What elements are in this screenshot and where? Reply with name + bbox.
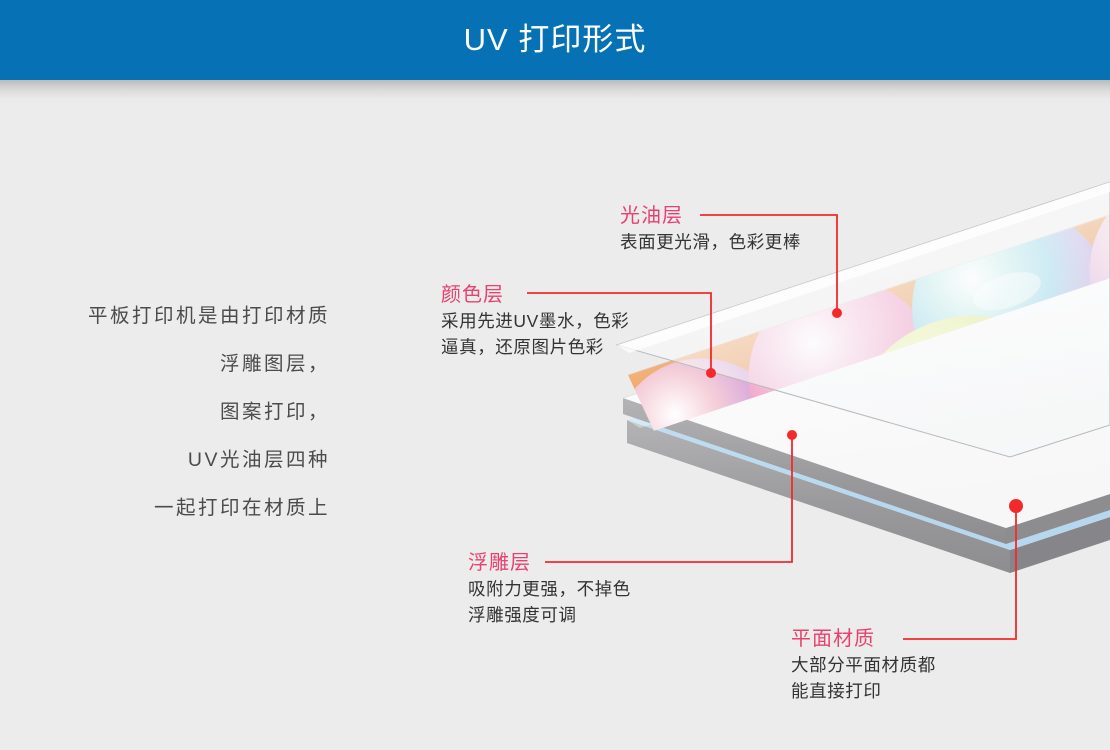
uv-print-infographic-page: UV 打印形式 平板打印机是由打印材质 浮雕图层， 图案打印， UV光油层四种 … <box>0 0 1110 750</box>
callout-color-desc-line-2: 逼真，还原图片色彩 <box>441 334 629 360</box>
callout-emboss-desc-line-2: 浮雕强度可调 <box>468 602 631 628</box>
banner-shadow <box>0 80 1110 106</box>
callout-color-desc-line-1: 采用先进UV墨水，色彩 <box>441 308 629 334</box>
callout-emboss-desc-line-1: 吸附力更强，不掉色 <box>468 576 631 602</box>
page-banner: UV 打印形式 <box>0 0 1110 80</box>
callout-base-desc-line-2: 能直接打印 <box>791 678 936 704</box>
callout-base-material: 平面材质 大部分平面材质都 能直接打印 <box>791 626 936 704</box>
callout-gloss-desc: 表面更光滑，色彩更棒 <box>620 229 801 255</box>
callout-color-desc: 采用先进UV墨水，色彩 逼真，还原图片色彩 <box>441 308 629 360</box>
page-title: UV 打印形式 <box>0 0 1110 80</box>
callout-base-title: 平面材质 <box>791 626 936 652</box>
callout-gloss-layer: 光油层 表面更光滑，色彩更棒 <box>620 203 801 255</box>
callout-emboss-title: 浮雕层 <box>468 550 631 576</box>
callout-color-layer: 颜色层 采用先进UV墨水，色彩 逼真，还原图片色彩 <box>441 282 629 360</box>
callout-base-desc-line-1: 大部分平面材质都 <box>791 652 936 678</box>
callout-emboss-desc: 吸附力更强，不掉色 浮雕强度可调 <box>468 576 631 628</box>
callout-emboss-layer: 浮雕层 吸附力更强，不掉色 浮雕强度可调 <box>468 550 631 628</box>
callout-gloss-desc-line-1: 表面更光滑，色彩更棒 <box>620 229 801 255</box>
callout-color-title: 颜色层 <box>441 282 629 308</box>
callout-base-desc: 大部分平面材质都 能直接打印 <box>791 652 936 704</box>
layer-stack-illustration <box>0 0 1110 750</box>
callout-gloss-title: 光油层 <box>620 203 801 229</box>
